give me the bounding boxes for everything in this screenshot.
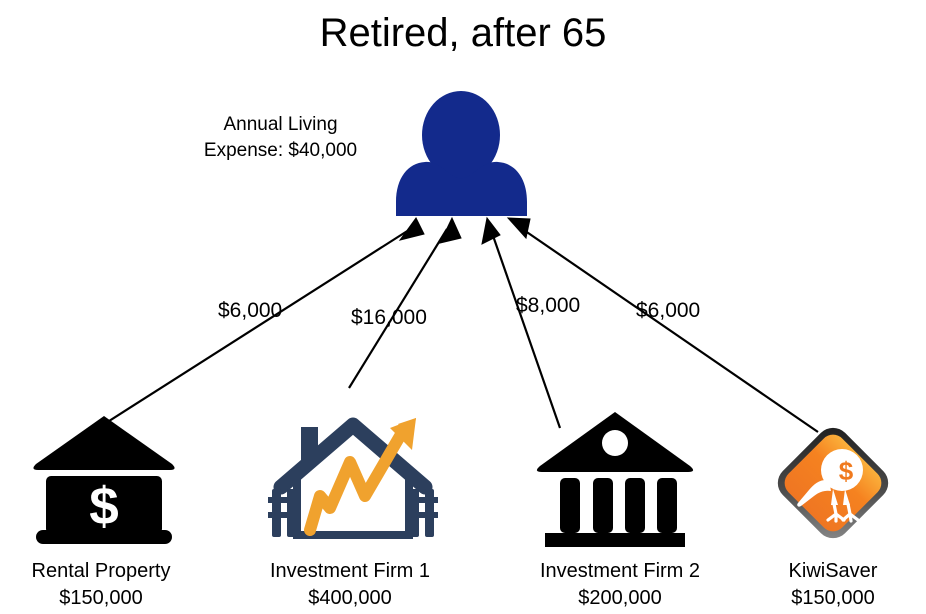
svg-text:$: $ [839, 456, 854, 486]
asset-name: Rental Property [0, 558, 202, 585]
kiwisaver-logo-icon: $ [771, 421, 895, 545]
fence-right [406, 489, 438, 537]
flow-arrow-investment-firm-2 [482, 218, 560, 428]
bank-dollar-icon: $ [33, 416, 174, 544]
flow-amount-investment-firm-1: $16,000 [351, 306, 427, 330]
fence-left [268, 489, 300, 537]
asset-label-investment-firm-1: Investment Firm 1 $400,000 [245, 558, 455, 612]
flow-amount-rental-property: $6,000 [218, 299, 282, 323]
asset-name: Investment Firm 2 [515, 558, 725, 585]
asset-label-investment-firm-2: Investment Firm 2 $200,000 [515, 558, 725, 612]
asset-label-rental-property: Rental Property $150,000 [0, 558, 202, 612]
person-icon [396, 91, 527, 216]
house-growth-chart-icon [268, 418, 438, 537]
diagram-canvas: Retired, after 65 Annual Living Expense:… [0, 0, 926, 614]
asset-value: $150,000 [0, 585, 202, 612]
asset-label-kiwisaver: KiwiSaver $150,000 [740, 558, 926, 612]
diagram-artwork: $ [0, 0, 926, 614]
bank-columns-icon [537, 412, 693, 547]
flow-amount-investment-firm-2: $8,000 [516, 294, 580, 318]
asset-name: Investment Firm 1 [245, 558, 455, 585]
asset-value: $200,000 [515, 585, 725, 612]
flow-amount-kiwisaver: $6,000 [636, 299, 700, 323]
flow-arrow-kiwisaver [508, 218, 818, 432]
flow-arrows [95, 218, 818, 432]
flow-arrow-investment-firm-1 [349, 218, 461, 388]
svg-text:$: $ [89, 477, 118, 536]
asset-value: $150,000 [740, 585, 926, 612]
asset-value: $400,000 [245, 585, 455, 612]
asset-name: KiwiSaver [740, 558, 926, 585]
